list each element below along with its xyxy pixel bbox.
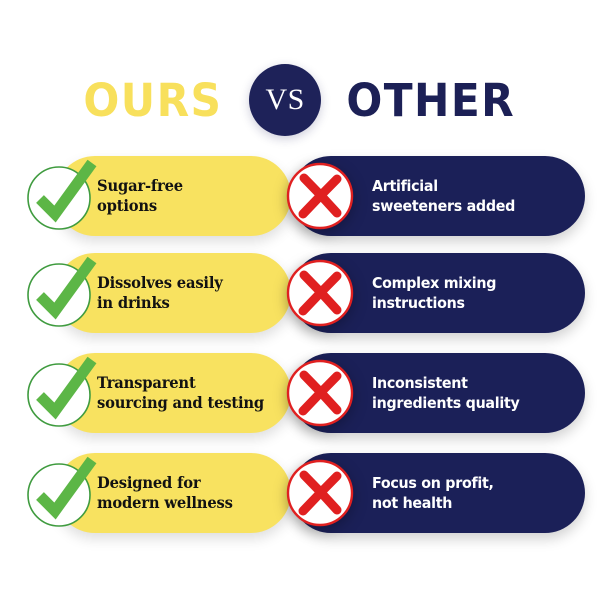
comparison-row: Transparent sourcing and testing Inconsi… (0, 345, 600, 445)
check-circle-icon (26, 458, 96, 528)
ours-text-line: modern wellness (97, 493, 282, 513)
vs-badge: VS (249, 64, 321, 136)
ours-text-line: sourcing and testing (97, 393, 282, 413)
other-text-line: Complex mixing (372, 273, 570, 293)
header-other-label: OTHER (347, 78, 516, 123)
other-text-line: Inconsistent (372, 373, 570, 393)
ours-text-line: Sugar-free (97, 176, 282, 196)
other-text: Inconsistent ingredients quality (372, 353, 570, 433)
ours-text-line: in drinks (97, 293, 282, 313)
ours-text-line: options (97, 196, 282, 216)
other-text: Focus on profit, not health (372, 453, 570, 533)
ours-text-line: Transparent (97, 373, 282, 393)
comparison-infographic: OURS VS OTHER Sugar-free options (0, 0, 600, 600)
vs-label: VS (265, 85, 304, 115)
ours-text-line: Dissolves easily (97, 273, 282, 293)
ours-text: Transparent sourcing and testing (97, 353, 282, 433)
comparison-row: Sugar-free options Artificial sweeteners… (0, 148, 600, 248)
header-ours-label: OURS (84, 78, 223, 123)
other-text-line: not health (372, 493, 570, 513)
header: OURS VS OTHER (0, 58, 600, 142)
other-text-line: Focus on profit, (372, 473, 570, 493)
ours-text: Dissolves easily in drinks (97, 253, 282, 333)
ours-text: Designed for modern wellness (97, 453, 282, 533)
other-text-line: ingredients quality (372, 393, 570, 413)
comparison-row: Designed for modern wellness Focus on pr… (0, 445, 600, 545)
x-circle-icon (285, 358, 355, 428)
x-circle-icon (285, 161, 355, 231)
other-text: Complex mixing instructions (372, 253, 570, 333)
x-circle-icon (285, 258, 355, 328)
check-circle-icon (26, 258, 96, 328)
check-circle-icon (26, 161, 96, 231)
comparison-row: Dissolves easily in drinks Complex mixin… (0, 245, 600, 345)
check-circle-icon (26, 358, 96, 428)
x-circle-icon (285, 458, 355, 528)
other-text: Artificial sweeteners added (372, 156, 570, 236)
ours-text: Sugar-free options (97, 156, 282, 236)
other-text-line: instructions (372, 293, 570, 313)
ours-text-line: Designed for (97, 473, 282, 493)
other-text-line: Artificial (372, 176, 570, 196)
other-text-line: sweeteners added (372, 196, 570, 216)
